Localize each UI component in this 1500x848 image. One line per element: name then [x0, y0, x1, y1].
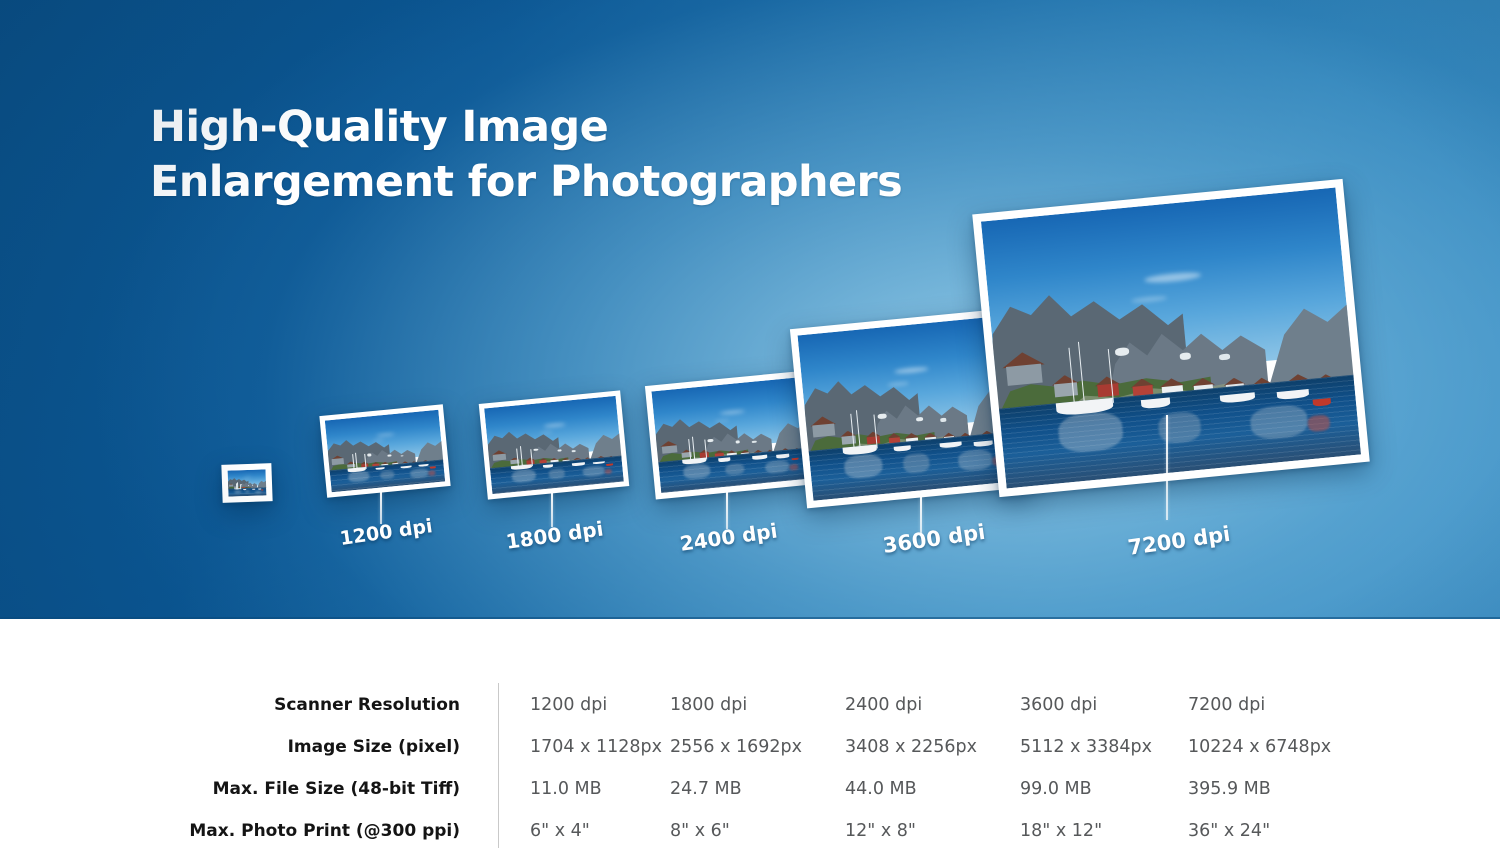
cell-image-size-2400: 3408 x 2256px: [845, 737, 977, 757]
dpi-label-frame-1800dpi: 1800 dpi: [504, 516, 605, 553]
cell-resolution-3600: 3600 dpi: [1020, 695, 1097, 715]
hero-banner: High-Quality Image Enlargement for Photo…: [0, 0, 1500, 619]
cell-photo-print-2400: 12" x 8": [845, 821, 916, 841]
frame-7200dpi: [972, 179, 1370, 497]
spec-table: Scanner Resolution 1200 dpi 1800 dpi 240…: [0, 619, 1500, 848]
cell-file-size-7200: 395.9 MB: [1188, 779, 1271, 799]
cell-resolution-1200: 1200 dpi: [530, 695, 607, 715]
photo-thumbnail: [484, 396, 624, 494]
frame-1800dpi: [479, 390, 630, 499]
table-row: Scanner Resolution 1200 dpi 1800 dpi 240…: [0, 695, 1500, 737]
cell-photo-print-7200: 36" x 24": [1188, 821, 1270, 841]
frame-2400dpi: [645, 370, 818, 499]
photo-thumbnail: [325, 410, 445, 493]
row-label-max-photo-print: Max. Photo Print (@300 ppi): [0, 821, 460, 841]
dpi-label-frame-7200dpi: 7200 dpi: [1126, 522, 1231, 560]
cell-file-size-1800: 24.7 MB: [670, 779, 742, 799]
dpi-label-frame-1200dpi: 1200 dpi: [338, 515, 433, 550]
cell-file-size-1200: 11.0 MB: [530, 779, 602, 799]
photo-thumbnail: [651, 377, 811, 493]
headline-line-1: High-Quality Image: [150, 102, 608, 152]
headline-line-2: Enlargement for Photographers: [150, 155, 1050, 210]
cell-file-size-3600: 99.0 MB: [1020, 779, 1092, 799]
cell-photo-print-1800: 8" x 6": [670, 821, 730, 841]
cell-resolution-2400: 2400 dpi: [845, 695, 922, 715]
frame-1200dpi: [319, 404, 450, 498]
cell-resolution-7200: 7200 dpi: [1188, 695, 1265, 715]
dpi-label-frame-3600dpi: 3600 dpi: [881, 520, 986, 558]
cell-photo-print-1200: 6" x 4": [530, 821, 590, 841]
cell-resolution-1800: 1800 dpi: [670, 695, 747, 715]
row-label-max-file-size: Max. File Size (48-bit Tiff): [0, 779, 460, 799]
cell-image-size-3600: 5112 x 3384px: [1020, 737, 1152, 757]
cell-file-size-2400: 44.0 MB: [845, 779, 917, 799]
leader-line-frame-7200dpi: [1166, 415, 1168, 520]
table-row: Max. File Size (48-bit Tiff) 11.0 MB 24.…: [0, 779, 1500, 821]
photo-thumbnail: [981, 188, 1361, 489]
cell-image-size-7200: 10224 x 6748px: [1188, 737, 1331, 757]
leader-line-frame-1800dpi: [551, 489, 553, 527]
row-label-image-size: Image Size (pixel): [0, 737, 460, 757]
thumbnail-original: [221, 463, 272, 503]
dpi-label-frame-2400dpi: 2400 dpi: [678, 518, 779, 555]
leader-line-frame-1200dpi: [380, 488, 382, 524]
table-row: Max. Photo Print (@300 ppi) 6" x 4" 8" x…: [0, 821, 1500, 848]
row-label-scanner-resolution: Scanner Resolution: [0, 695, 460, 715]
leader-line-frame-2400dpi: [726, 490, 728, 529]
cell-image-size-1200: 1704 x 1128px: [530, 737, 662, 757]
cell-photo-print-3600: 18" x 12": [1020, 821, 1102, 841]
cell-image-size-1800: 2556 x 1692px: [670, 737, 802, 757]
table-row: Image Size (pixel) 1704 x 1128px 2556 x …: [0, 737, 1500, 779]
page-title: High-Quality Image Enlargement for Photo…: [150, 100, 1050, 209]
photo-thumbnail: [228, 469, 267, 496]
page-root: High-Quality Image Enlargement for Photo…: [0, 0, 1500, 848]
